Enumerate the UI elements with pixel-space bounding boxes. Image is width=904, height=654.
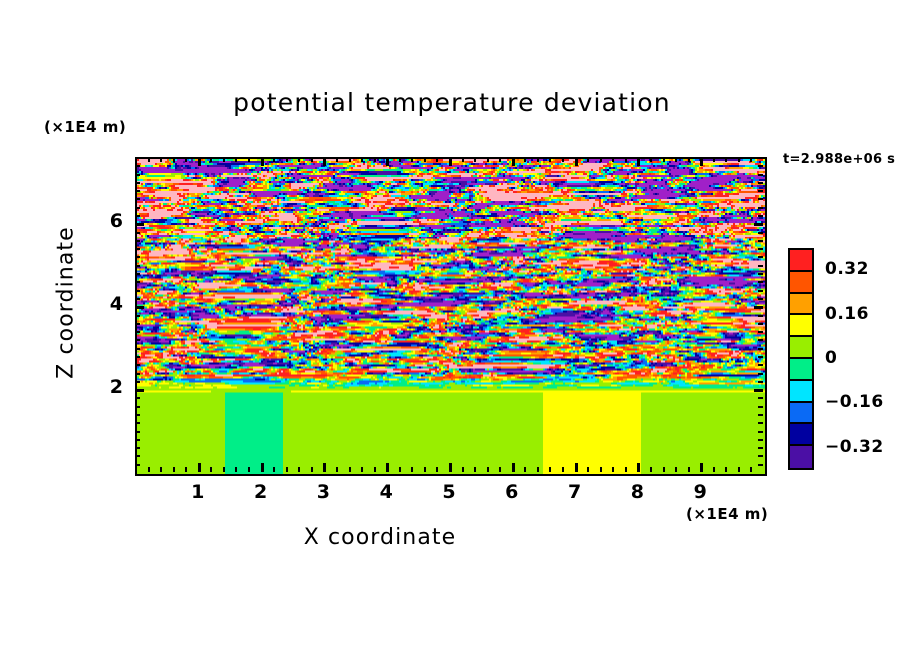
tick-mark [758, 290, 763, 292]
tick-mark [436, 467, 438, 472]
tick-mark [210, 467, 212, 472]
tick-mark [758, 406, 763, 408]
tick-mark [223, 467, 225, 472]
tick-mark [135, 306, 144, 309]
tick-mark [323, 157, 326, 166]
tick-mark [135, 331, 140, 333]
tick-mark [135, 281, 140, 283]
tick-mark [323, 463, 326, 472]
colorbar-band [790, 403, 812, 425]
tick-mark [758, 364, 763, 366]
tick-mark [625, 467, 627, 472]
tick-mark [223, 157, 225, 162]
tick-mark [758, 240, 763, 242]
colorbar-tick-label: 0 [825, 348, 837, 368]
tick-mark [499, 157, 501, 162]
tick-mark [537, 157, 539, 162]
colorbar-band [790, 272, 812, 294]
tick-mark [487, 467, 489, 472]
tick-mark [758, 281, 763, 283]
tick-mark [135, 273, 140, 275]
colorbar-band [790, 446, 812, 468]
tick-mark [135, 464, 140, 466]
tick-mark [758, 323, 763, 325]
x-tick-label: 3 [303, 481, 343, 503]
tick-mark [135, 381, 140, 383]
tick-mark [650, 467, 652, 472]
tick-mark [758, 182, 763, 184]
tick-mark [135, 215, 140, 217]
tick-mark [754, 389, 763, 392]
tick-mark [754, 306, 763, 309]
tick-mark [663, 467, 665, 472]
tick-mark [758, 373, 763, 375]
tick-mark [758, 397, 763, 399]
tick-mark [449, 463, 452, 472]
tick-mark [311, 467, 313, 472]
tick-mark [135, 447, 140, 449]
tick-mark [135, 207, 140, 209]
x-axis-label: X coordinate [0, 525, 760, 550]
tick-mark [474, 467, 476, 472]
tick-mark [562, 157, 564, 162]
tick-mark [336, 157, 338, 162]
tick-mark [135, 182, 140, 184]
tick-mark [198, 157, 201, 166]
tick-mark [286, 467, 288, 472]
tick-mark [462, 157, 464, 162]
tick-mark [600, 467, 602, 472]
tick-mark [185, 157, 187, 162]
tick-mark [135, 190, 140, 192]
tick-mark [713, 157, 715, 162]
tick-mark [758, 431, 763, 433]
tick-mark [758, 256, 763, 258]
tick-mark [374, 157, 376, 162]
tick-mark [135, 240, 140, 242]
tick-mark [637, 463, 640, 472]
tick-mark [738, 157, 740, 162]
tick-mark [758, 348, 763, 350]
tick-mark [462, 467, 464, 472]
tick-mark [135, 298, 140, 300]
colorbar-band [790, 381, 812, 403]
tick-mark [587, 157, 589, 162]
tick-mark [758, 422, 763, 424]
colorbar-band [790, 359, 812, 381]
tick-mark [758, 273, 763, 275]
tick-mark [700, 463, 703, 472]
tick-mark [349, 467, 351, 472]
tick-mark [612, 157, 614, 162]
tick-mark [235, 467, 237, 472]
tick-mark [135, 198, 140, 200]
colorbar-scale [788, 248, 814, 470]
tick-mark [399, 467, 401, 472]
colorbar-tick-label: 0.16 [825, 304, 869, 324]
tick-mark [135, 165, 140, 167]
figure-canvas: potential temperature deviation (×1E4 m)… [0, 0, 904, 654]
tick-mark [361, 467, 363, 472]
tick-mark [135, 389, 144, 392]
tick-mark [273, 157, 275, 162]
tick-mark [135, 174, 140, 176]
tick-mark [758, 298, 763, 300]
tick-mark [474, 157, 476, 162]
y-tick-label: 6 [95, 210, 123, 232]
tick-mark [575, 463, 578, 472]
tick-mark [135, 431, 140, 433]
tick-mark [135, 223, 144, 226]
colorbar-tick-label: −0.16 [825, 392, 884, 412]
tick-mark [758, 248, 763, 250]
tick-mark [600, 157, 602, 162]
tick-mark [675, 467, 677, 472]
tick-mark [424, 157, 426, 162]
tick-mark [758, 165, 763, 167]
tick-mark [675, 157, 677, 162]
x-tick-label: 4 [366, 481, 406, 503]
tick-mark [160, 467, 162, 472]
tick-mark [758, 265, 763, 267]
tick-mark [135, 232, 140, 234]
tick-mark [424, 467, 426, 472]
tick-mark [135, 323, 140, 325]
tick-mark [725, 467, 727, 472]
tick-mark [135, 397, 140, 399]
colorbar-band [790, 424, 812, 446]
tick-mark [286, 157, 288, 162]
tick-mark [758, 414, 763, 416]
tick-mark [754, 223, 763, 226]
tick-mark [499, 467, 501, 472]
tick-mark [524, 467, 526, 472]
tick-mark [758, 439, 763, 441]
tick-mark [738, 467, 740, 472]
tick-mark [663, 157, 665, 162]
tick-mark [725, 157, 727, 162]
heatmap-plot-area[interactable] [135, 157, 767, 476]
colorbar[interactable]: 0.320.160−0.16−0.32 [785, 222, 904, 518]
tick-mark [637, 157, 640, 166]
tick-mark [386, 157, 389, 166]
x-tick-label: 7 [555, 481, 595, 503]
tick-mark [758, 381, 763, 383]
tick-mark [625, 157, 627, 162]
tick-mark [135, 406, 140, 408]
tick-mark [758, 447, 763, 449]
tick-mark [135, 315, 140, 317]
tick-mark [512, 463, 515, 472]
tick-mark [148, 157, 150, 162]
tick-mark [411, 467, 413, 472]
tick-mark [298, 467, 300, 472]
tick-mark [135, 348, 140, 350]
tick-mark [273, 467, 275, 472]
tick-mark [713, 467, 715, 472]
colorbar-band [790, 250, 812, 272]
tick-mark [750, 467, 752, 472]
x-tick-label: 6 [492, 481, 532, 503]
tick-mark [758, 174, 763, 176]
tick-mark [148, 467, 150, 472]
tick-mark [487, 157, 489, 162]
tick-mark [173, 467, 175, 472]
tick-mark [549, 467, 551, 472]
tick-mark [135, 290, 140, 292]
tick-mark [298, 157, 300, 162]
colorbar-band [790, 294, 812, 316]
temperature-deviation-field [137, 159, 765, 474]
tick-mark [135, 248, 140, 250]
tick-mark [758, 232, 763, 234]
tick-mark [173, 157, 175, 162]
tick-mark [688, 467, 690, 472]
colorbar-band [790, 337, 812, 359]
tick-mark [336, 467, 338, 472]
tick-mark [374, 467, 376, 472]
tick-mark [575, 157, 578, 166]
tick-mark [758, 315, 763, 317]
tick-mark [349, 157, 351, 162]
tick-mark [688, 157, 690, 162]
tick-mark [261, 157, 264, 166]
tick-mark [135, 356, 140, 358]
tick-mark [650, 157, 652, 162]
tick-mark [135, 256, 140, 258]
tick-mark [135, 265, 140, 267]
x-tick-label: 2 [241, 481, 281, 503]
timestamp-annotation: t=2.988e+06 s [783, 152, 895, 167]
tick-mark [135, 373, 140, 375]
tick-mark [185, 467, 187, 472]
tick-mark [198, 463, 201, 472]
tick-mark [449, 157, 452, 166]
tick-mark [386, 463, 389, 472]
colorbar-tick-label: −0.32 [825, 437, 884, 457]
page-title: potential temperature deviation [0, 88, 904, 117]
tick-mark [135, 455, 140, 457]
tick-mark [261, 463, 264, 472]
x-tick-label: 5 [429, 481, 469, 503]
tick-mark [758, 339, 763, 341]
tick-mark [587, 467, 589, 472]
tick-mark [758, 198, 763, 200]
tick-mark [135, 439, 140, 441]
tick-mark [758, 464, 763, 466]
tick-mark [135, 339, 140, 341]
colorbar-band [790, 315, 812, 337]
y-axis-label: Z coordinate [54, 213, 79, 393]
y-tick-label: 2 [95, 376, 123, 398]
tick-mark [758, 331, 763, 333]
x-tick-label: 8 [617, 481, 657, 503]
tick-mark [135, 364, 140, 366]
x-tick-label: 1 [178, 481, 218, 503]
z-axis-unit-label: (×1E4 m) [44, 118, 126, 136]
tick-mark [758, 190, 763, 192]
tick-mark [562, 467, 564, 472]
x-tick-label: 9 [680, 481, 720, 503]
tick-mark [399, 157, 401, 162]
tick-mark [700, 157, 703, 166]
tick-mark [436, 157, 438, 162]
tick-mark [524, 157, 526, 162]
tick-mark [160, 157, 162, 162]
tick-mark [612, 467, 614, 472]
tick-mark [758, 455, 763, 457]
tick-mark [135, 414, 140, 416]
tick-mark [311, 157, 313, 162]
x-axis-unit-label: (×1E4 m) [686, 505, 768, 523]
tick-mark [512, 157, 515, 166]
tick-mark [537, 467, 539, 472]
tick-mark [411, 157, 413, 162]
tick-mark [210, 157, 212, 162]
tick-mark [248, 157, 250, 162]
tick-mark [135, 422, 140, 424]
tick-mark [758, 207, 763, 209]
tick-mark [758, 356, 763, 358]
colorbar-tick-label: 0.32 [825, 259, 869, 279]
tick-mark [758, 215, 763, 217]
y-tick-label: 4 [95, 293, 123, 315]
tick-mark [248, 467, 250, 472]
tick-mark [549, 157, 551, 162]
tick-mark [235, 157, 237, 162]
tick-mark [750, 157, 752, 162]
tick-mark [361, 157, 363, 162]
